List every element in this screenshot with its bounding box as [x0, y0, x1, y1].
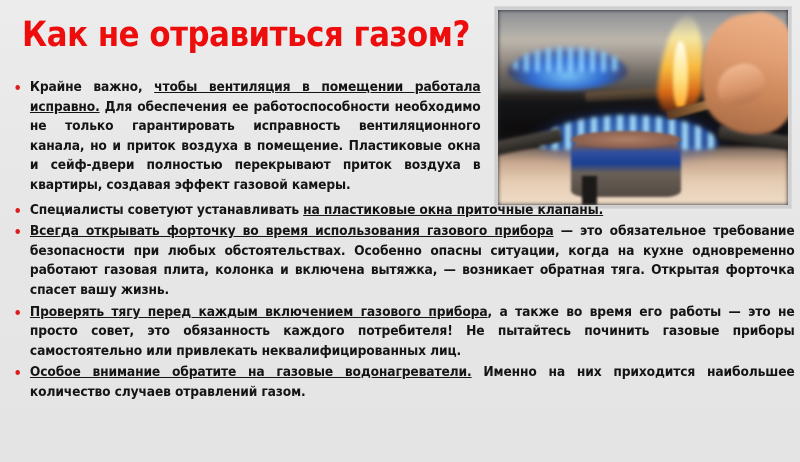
- list-item-open-window: Всегда открывать форточку во время испол…: [10, 222, 795, 300]
- list-item-intake-valves: Специалисты советуют устанавливать на пл…: [10, 201, 795, 221]
- bullet-emphasis-4: Особое внимание обратите на газовые водо…: [30, 364, 472, 380]
- list-item-water-heaters: Особое внимание обратите на газовые водо…: [10, 363, 795, 402]
- bullet-text-ventilation: Крайне важно, чтобы вентиляция в помещен…: [30, 78, 481, 196]
- bullet-text-open-window: Всегда открывать форточку во время испол…: [30, 222, 795, 300]
- gas-safety-poster: Как не отравиться газом? Крайне важно, ч…: [0, 0, 800, 462]
- bullet-lead-0: Крайне важно,: [30, 79, 154, 95]
- bullet-text-intake-valves: Специалисты советуют устанавливать на пл…: [30, 201, 795, 221]
- bullet-lead-1: Специалисты советуют устанавливать: [30, 202, 303, 218]
- bullet-emphasis-2: Всегда открывать форточку во время испол…: [30, 223, 554, 239]
- bullet-text-water-heaters: Особое внимание обратите на газовые водо…: [30, 363, 795, 402]
- page-title: Как не отравиться газом?: [22, 18, 470, 53]
- bullet-emphasis-1: на пластиковые окна приточные клапаны.: [303, 202, 603, 218]
- bullet-emphasis-3: Проверять тягу перед каждым включением г…: [30, 304, 488, 320]
- bullet-list: Крайне важно, чтобы вентиляция в помещен…: [0, 78, 800, 405]
- bullet-text-check-draft: Проверять тягу перед каждым включением г…: [30, 303, 795, 362]
- list-item-check-draft: Проверять тягу перед каждым включением г…: [10, 303, 795, 362]
- list-item-ventilation: Крайне важно, чтобы вентиляция в помещен…: [10, 78, 481, 196]
